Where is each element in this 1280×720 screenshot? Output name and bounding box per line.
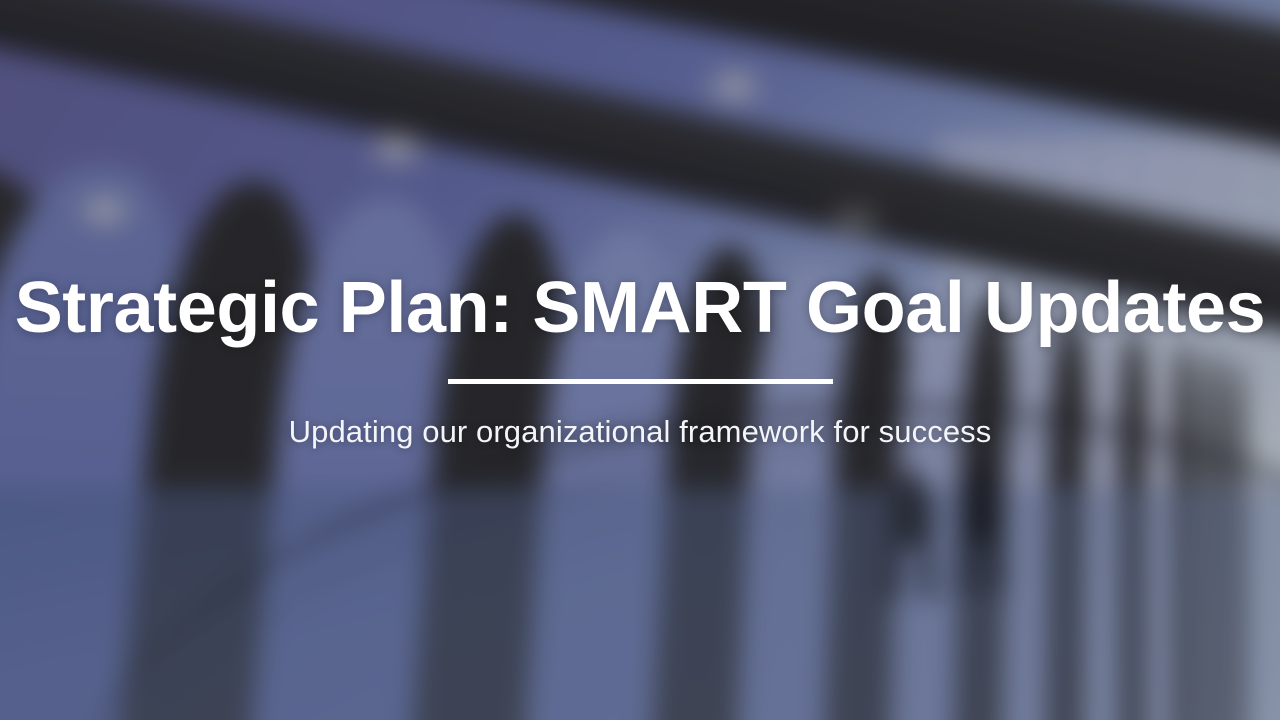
title-slide: Strategic Plan: SMART Goal Updates Updat… — [0, 0, 1280, 720]
slide-title: Strategic Plan: SMART Goal Updates — [15, 270, 1266, 346]
slide-content: Strategic Plan: SMART Goal Updates Updat… — [0, 0, 1280, 720]
title-divider — [448, 379, 833, 384]
slide-subtitle: Updating our organizational framework fo… — [289, 414, 992, 450]
